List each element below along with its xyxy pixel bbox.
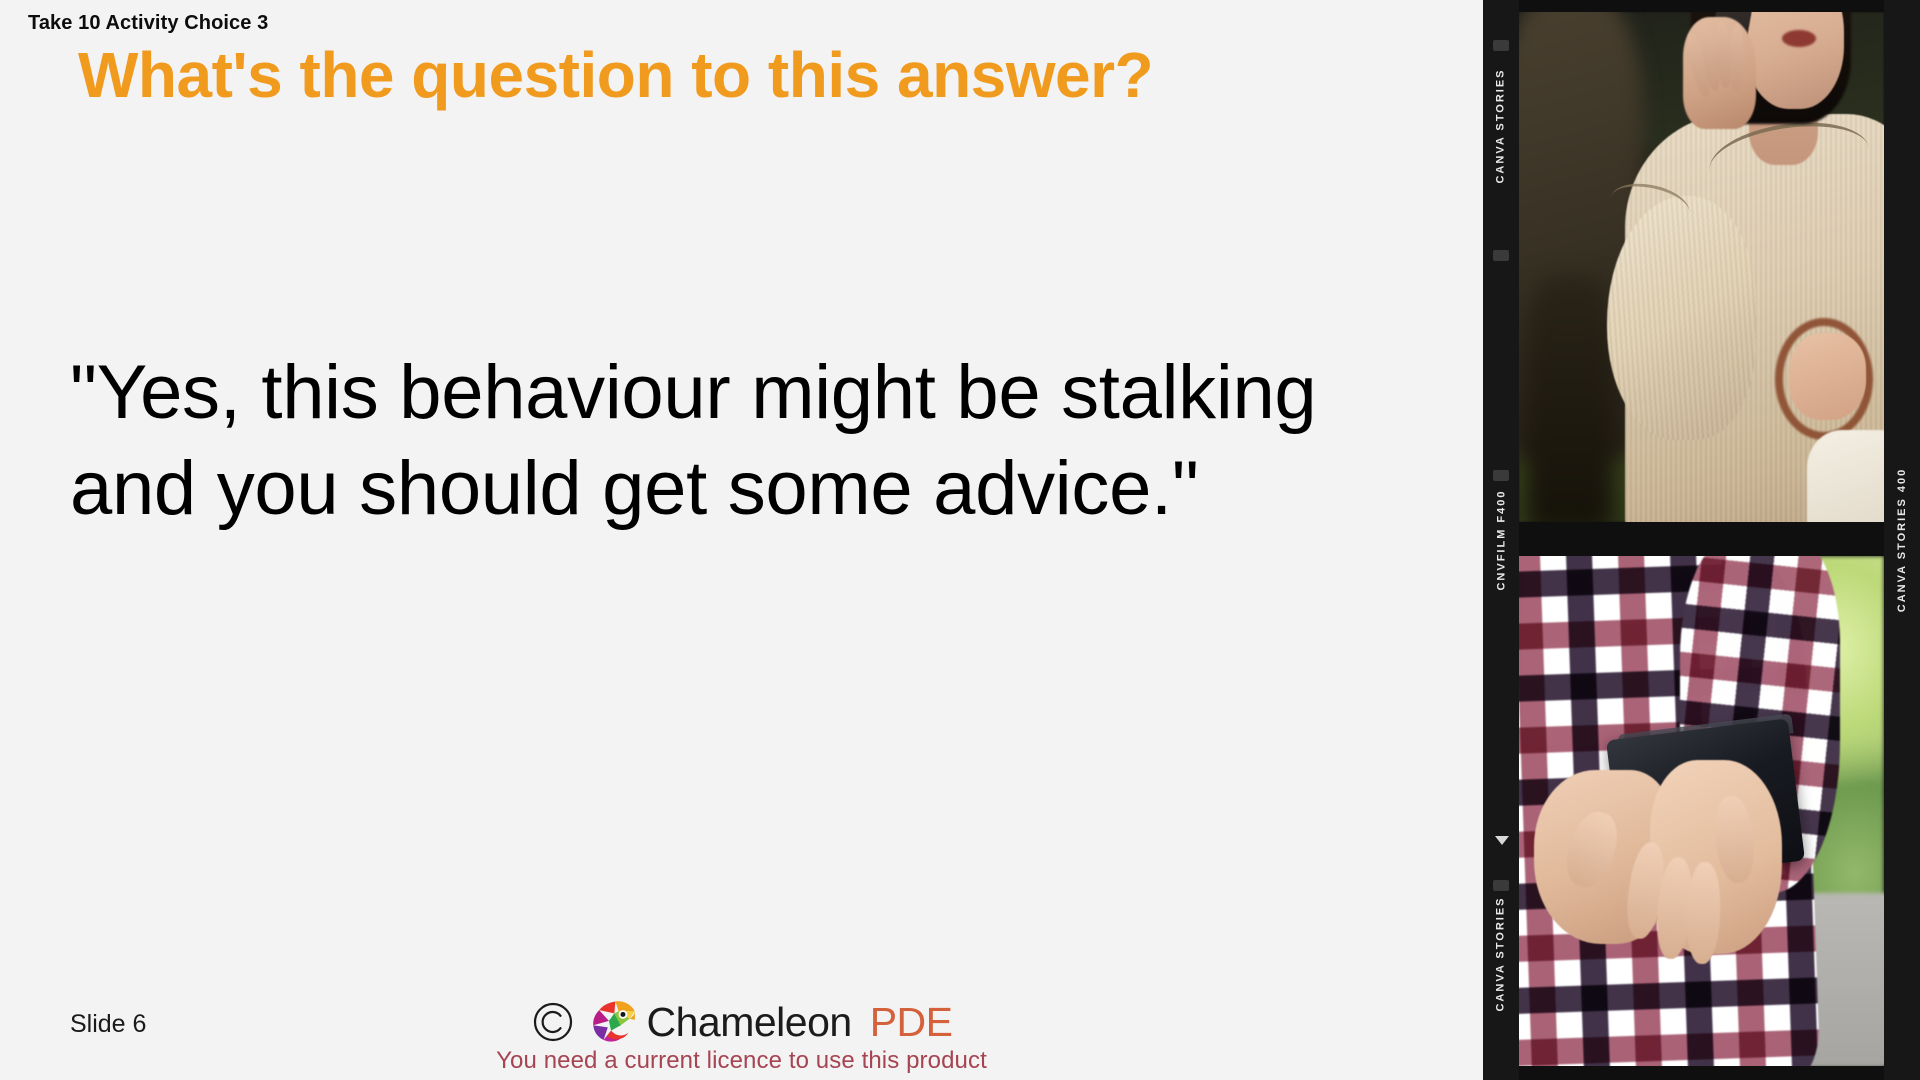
film-sprocket	[1493, 470, 1509, 481]
brand-name-label: Chameleon	[647, 1002, 852, 1043]
page-title: What's the question to this answer?	[78, 42, 1153, 109]
hands-holding-phone-photo	[1519, 556, 1884, 1066]
brand-row: Chameleon PDE	[531, 995, 953, 1049]
film-cap-bottom	[1519, 1066, 1884, 1080]
footer-branding: Chameleon PDE You need a current licence…	[0, 995, 1483, 1075]
woman-on-phone-photo	[1519, 12, 1884, 522]
photo-filmstrip: CANVA STORIES CNVFILM F400 CANVA STORIES…	[1483, 0, 1920, 1080]
licence-note-text: You need a current licence to use this p…	[496, 1047, 987, 1075]
film-sprocket	[1493, 880, 1509, 891]
film-edge-left: CANVA STORIES CNVFILM F400 CANVA STORIES	[1483, 0, 1519, 1080]
slide-canvas: Take 10 Activity Choice 3 What's the que…	[0, 0, 1920, 1080]
film-edge-label-bottom: CANVA STORIES	[1495, 896, 1507, 1011]
slide-content: Take 10 Activity Choice 3 What's the que…	[0, 0, 1483, 1080]
film-sprocket	[1493, 40, 1509, 51]
film-frame-marker-icon	[1495, 836, 1509, 845]
copyright-icon	[531, 1000, 575, 1044]
film-edge-label-mid: CNVFILM F400	[1495, 489, 1507, 590]
film-frame-gap	[1519, 522, 1884, 556]
film-edge-label-right: CANVA STORIES 400	[1896, 468, 1908, 612]
film-edge-label-top: CANVA STORIES	[1495, 68, 1507, 183]
answer-quote-text: "Yes, this behaviour might be stalking a…	[70, 345, 1380, 537]
film-cap-top	[1519, 0, 1884, 12]
film-edge-right: CANVA STORIES 400	[1884, 0, 1920, 1080]
brand-suffix-label: PDE	[870, 1002, 953, 1043]
film-sprocket	[1493, 250, 1509, 261]
activity-eyebrow-label: Take 10 Activity Choice 3	[28, 12, 268, 35]
chameleon-logo-icon	[583, 995, 637, 1049]
